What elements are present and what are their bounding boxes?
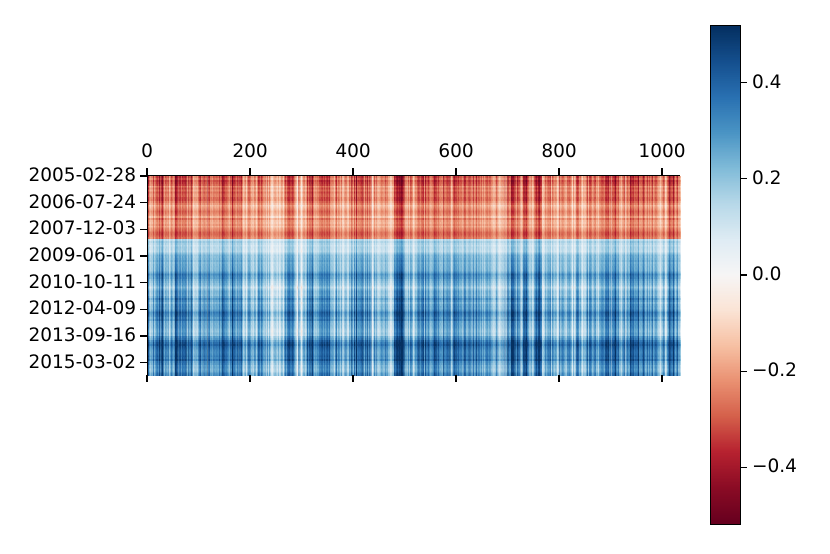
colorbar: [710, 25, 741, 525]
x-tick-mark: [352, 168, 353, 175]
colorbar-tick-label: −0.4: [752, 458, 797, 477]
x-tick-label: 1000: [638, 143, 685, 162]
colorbar-tick-mark: [741, 467, 747, 468]
colorbar-tick-mark: [741, 178, 747, 179]
x-tick-mark: [249, 168, 250, 175]
x-tick-mark-bottom: [146, 375, 147, 382]
y-tick-mark: [140, 362, 147, 363]
x-tick-label: 800: [541, 143, 576, 162]
x-tick-mark: [455, 168, 456, 175]
y-tick-label: 2007-12-03: [28, 220, 136, 239]
colorbar-gradient: [711, 26, 740, 524]
heatmap-image: [148, 176, 681, 376]
colorbar-tick-label: 0.0: [752, 266, 781, 285]
x-tick-label: 200: [232, 143, 267, 162]
y-tick-mark: [140, 202, 147, 203]
y-tick-label: 2013-09-16: [28, 327, 136, 346]
x-tick-mark: [146, 168, 147, 175]
x-tick-label: 400: [335, 143, 370, 162]
colorbar-tick-label: 0.4: [752, 73, 781, 92]
colorbar-tick-mark: [741, 274, 747, 275]
x-tick-label: 600: [438, 143, 473, 162]
x-tick-mark-bottom: [352, 375, 353, 382]
y-tick-mark: [140, 335, 147, 336]
y-tick-mark: [140, 282, 147, 283]
y-tick-label: 2012-04-09: [28, 300, 136, 319]
figure-canvas: 02004006008001000 2005-02-282006-07-2420…: [0, 0, 830, 554]
colorbar-tick-mark: [741, 82, 747, 83]
y-tick-mark: [140, 255, 147, 256]
x-tick-mark-bottom: [455, 375, 456, 382]
y-tick-label: 2005-02-28: [28, 167, 136, 186]
colorbar-tick-mark: [741, 371, 747, 372]
y-tick-label: 2009-06-01: [28, 247, 136, 266]
x-tick-mark-bottom: [558, 375, 559, 382]
x-tick-mark: [558, 168, 559, 175]
y-tick-mark: [140, 309, 147, 310]
y-tick-label: 2010-10-11: [28, 273, 136, 292]
y-tick-mark: [140, 175, 147, 176]
colorbar-tick-label: 0.2: [752, 170, 781, 189]
x-tick-mark-bottom: [661, 375, 662, 382]
y-tick-label: 2006-07-24: [28, 193, 136, 212]
x-tick-mark: [661, 168, 662, 175]
x-tick-mark-bottom: [249, 375, 250, 382]
y-tick-label: 2015-03-02: [28, 353, 136, 372]
y-tick-mark: [140, 229, 147, 230]
colorbar-tick-label: −0.2: [752, 362, 797, 381]
heatmap-axes: [147, 175, 680, 375]
x-tick-label: 0: [141, 143, 153, 162]
